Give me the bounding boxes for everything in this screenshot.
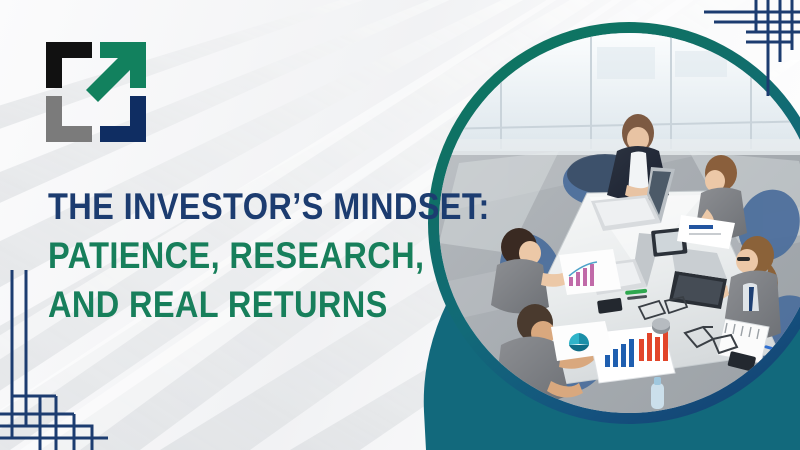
page-title: THE INVESTOR’S MINDSET: PATIENCE, RESEAR… [48,182,448,329]
lattice-corner-ornament-bottom-left [0,270,108,450]
lattice-corner-ornament-top-right [692,0,800,96]
logo-bracket-top-left [46,42,92,88]
investor-brackets-logo [46,42,146,142]
logo-bracket-bottom-left [46,96,92,142]
promo-banner: THE INVESTOR’S MINDSET: PATIENCE, RESEAR… [0,0,800,450]
logo-bracket-bottom-right [100,96,146,142]
headline-line-1: THE INVESTOR’S MINDSET: [48,182,400,231]
logo-arrow-top-right [86,42,146,102]
